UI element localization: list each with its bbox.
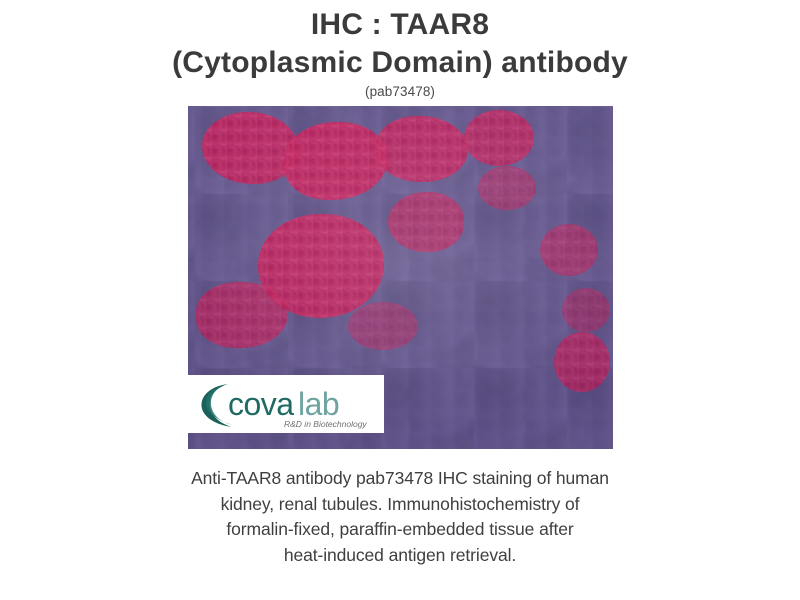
stained-tubule	[196, 282, 288, 348]
stained-tubule	[284, 122, 388, 200]
figure-page: IHC : TAAR8 (Cytoplasmic Domain) antibod…	[0, 0, 800, 600]
page-title-line-1: IHC : TAAR8	[0, 6, 800, 44]
caption-line: formalin-fixed, paraffin-embedded tissue…	[90, 517, 710, 543]
catalog-number: (pab73478)	[0, 83, 800, 101]
stained-tubule	[388, 192, 464, 252]
covalab-watermark: cova lab R&D in Biotechnology	[188, 375, 384, 433]
logo-wordmark-cova: cova	[228, 386, 294, 422]
stained-tubule	[464, 110, 534, 166]
stained-tubule	[478, 166, 536, 210]
caption-line: Anti-TAAR8 antibody pab73478 IHC stainin…	[90, 466, 710, 492]
covalab-logo-icon: cova lab R&D in Biotechnology	[188, 375, 384, 433]
ihc-micrograph: cova lab R&D in Biotechnology	[188, 106, 613, 449]
stained-tubule	[202, 112, 298, 184]
stained-tubule	[554, 332, 610, 392]
stained-tubule	[348, 302, 418, 350]
logo-wordmark-lab: lab	[298, 386, 339, 422]
page-title-line-2: (Cytoplasmic Domain) antibody	[0, 44, 800, 82]
title-block: IHC : TAAR8 (Cytoplasmic Domain) antibod…	[0, 0, 800, 101]
stained-tubule	[258, 214, 384, 318]
caption-line: kidney, renal tubules. Immunohistochemis…	[90, 492, 710, 518]
logo-tagline: R&D in Biotechnology	[284, 419, 367, 429]
stained-tubule	[376, 116, 468, 182]
stained-tubule	[562, 288, 610, 332]
figure-caption: Anti-TAAR8 antibody pab73478 IHC stainin…	[90, 466, 710, 568]
stained-tubule	[540, 224, 598, 276]
caption-line: heat-induced antigen retrieval.	[90, 543, 710, 569]
